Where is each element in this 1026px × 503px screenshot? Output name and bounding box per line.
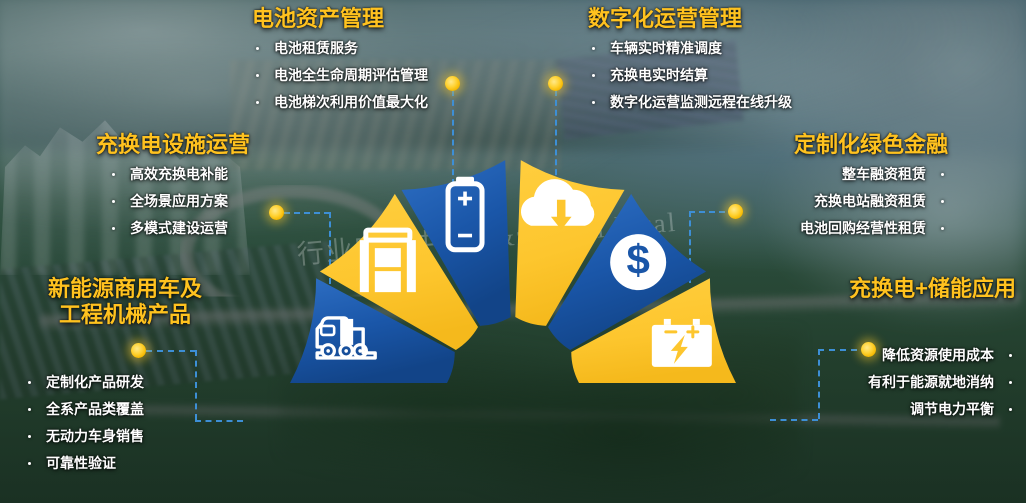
- infographic-canvas: 行业客户中心&&zhuwei.local: [0, 0, 1026, 503]
- list-item: 多模式建设运营: [108, 221, 250, 235]
- list-item: 高效充换电补能: [108, 167, 250, 181]
- list-item: 充换电实时结算: [588, 68, 792, 82]
- block-bullet-list: 高效充换电补能 全场景应用方案 多模式建设运营: [108, 167, 250, 235]
- block-battery-asset-management: 电池资产管理 电池租赁服务 电池全生命周期评估管理 电池梯次利用价值最大化: [252, 6, 428, 122]
- block-bullet-list: 整车融资租赁 充换电站融资租赁 电池回购经营性租赁: [742, 167, 948, 235]
- list-item: 可靠性验证: [24, 456, 250, 470]
- block-charging-swapping-facility-operation: 充换电设施运营 高效充换电补能 全场景应用方案 多模式建设运营: [96, 132, 250, 248]
- list-item: 调节电力平衡: [800, 402, 1016, 416]
- list-item: 电池梯次利用价值最大化: [252, 95, 428, 109]
- list-item: 车辆实时精准调度: [588, 41, 792, 55]
- list-item: 全场景应用方案: [108, 194, 250, 208]
- block-title: 充换电设施运营: [96, 132, 250, 158]
- block-bullet-list: 定制化产品研发 全系产品类覆盖 无动力车身销售 可靠性验证: [24, 375, 250, 470]
- block-title: 定制化绿色金融: [742, 132, 948, 158]
- list-item: 整车融资租赁: [742, 167, 948, 181]
- dollar-circle-icon: $: [610, 234, 666, 290]
- list-item: 无动力车身销售: [24, 429, 250, 443]
- list-item: 充换电站融资租赁: [742, 194, 948, 208]
- block-customized-green-finance: 定制化绿色金融 整车融资租赁 充换电站融资租赁 电池回购经营性租赁: [742, 132, 948, 248]
- block-title: 数字化运营管理: [588, 6, 792, 32]
- swap-station-icon: [360, 230, 416, 292]
- block-new-energy-commercial-vehicles: 新能源商用车及 工程机械产品 定制化产品研发 全系产品类覆盖 无动力车身销售 可…: [10, 276, 250, 483]
- block-title: 电池资产管理: [252, 6, 428, 32]
- block-charging-swapping-energy-storage: 充换电+储能应用 降低资源使用成本 有利于能源就地消纳 调节电力平衡: [800, 276, 1016, 429]
- list-item: 数字化运营监测远程在线升级: [588, 95, 792, 109]
- list-item: 电池回购经营性租赁: [742, 221, 948, 235]
- block-bullet-list: 车辆实时精准调度 充换电实时结算 数字化运营监测远程在线升级: [588, 41, 792, 109]
- block-title: 新能源商用车及 工程机械产品: [10, 276, 240, 329]
- list-item: 降低资源使用成本: [800, 348, 1016, 362]
- svg-text:$: $: [626, 236, 649, 283]
- list-item: 电池全生命周期评估管理: [252, 68, 428, 82]
- list-item: 有利于能源就地消纳: [800, 375, 1016, 389]
- block-digital-operation-management: 数字化运营管理 车辆实时精准调度 充换电实时结算 数字化运营监测远程在线升级: [588, 6, 792, 122]
- block-bullet-list: 电池租赁服务 电池全生命周期评估管理 电池梯次利用价值最大化: [252, 41, 428, 109]
- block-bullet-list: 降低资源使用成本 有利于能源就地消纳 调节电力平衡: [800, 348, 1016, 416]
- car-battery-bolt-icon: [652, 319, 712, 367]
- block-title: 充换电+储能应用: [800, 276, 1016, 302]
- list-item: 全系产品类覆盖: [24, 402, 250, 416]
- list-item: 定制化产品研发: [24, 375, 250, 389]
- list-item: 电池租赁服务: [252, 41, 428, 55]
